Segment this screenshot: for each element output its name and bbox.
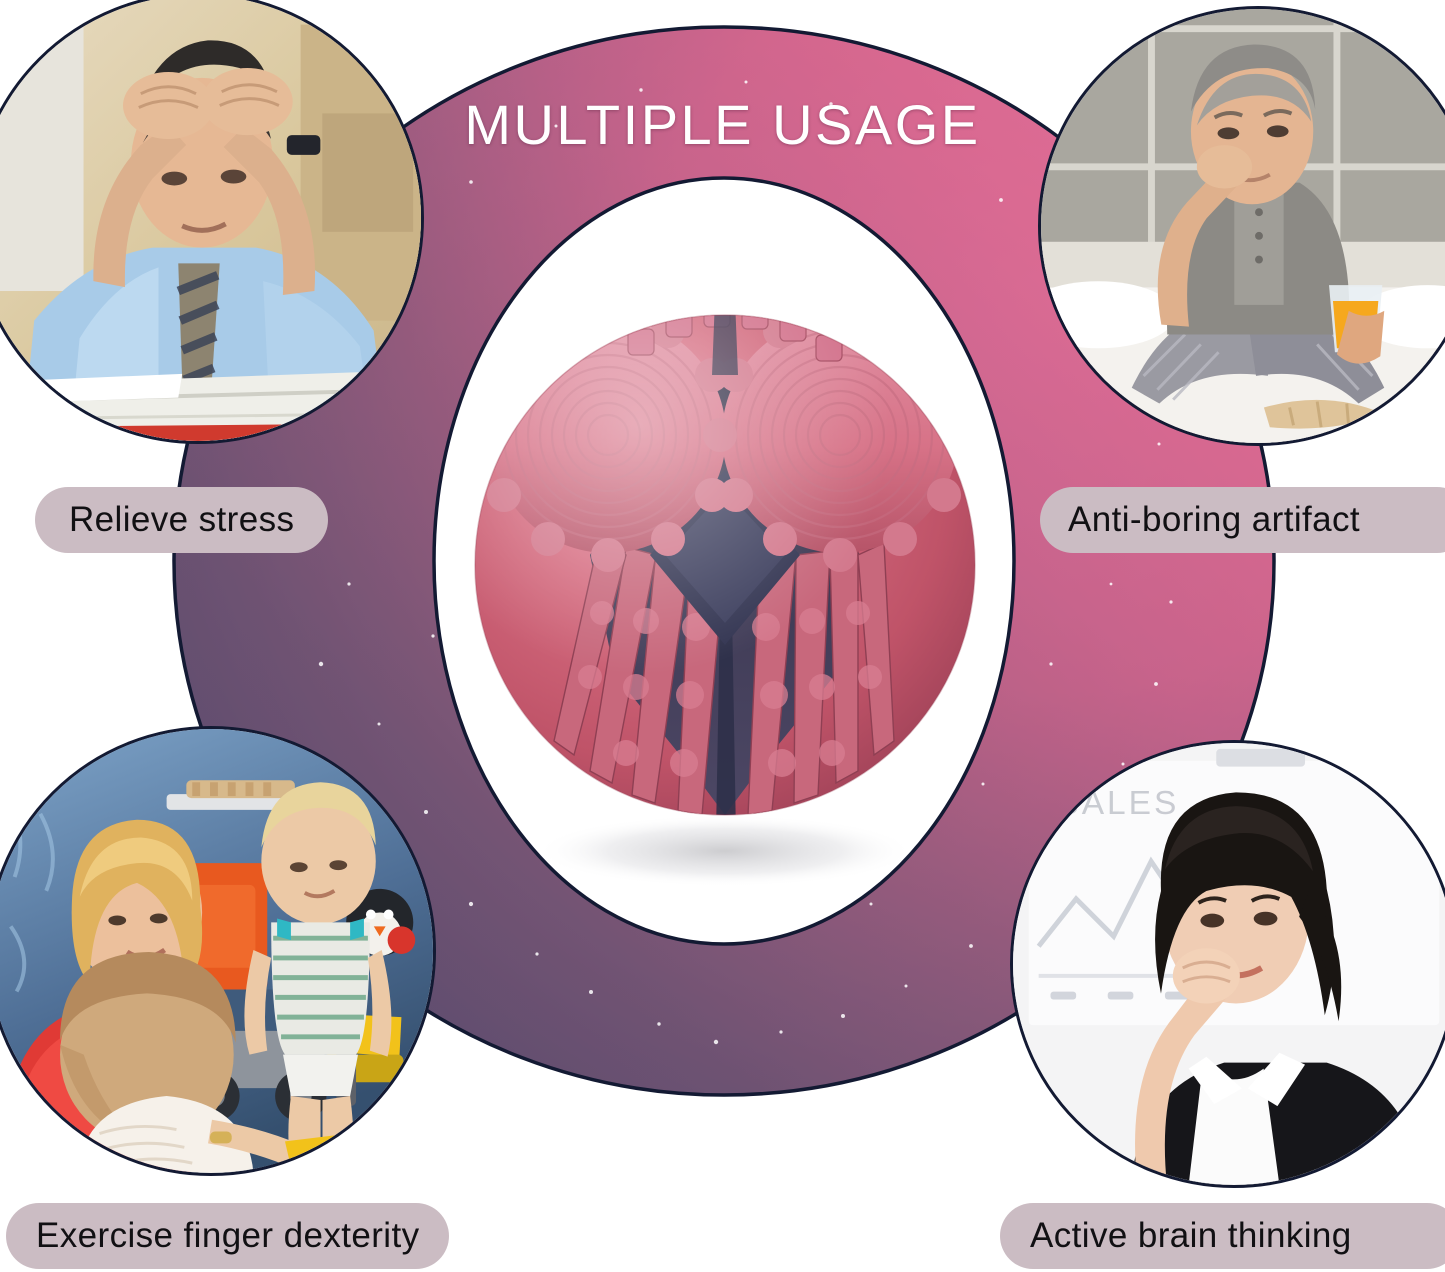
feature-label-active-brain-thinking[interactable]: Active brain thinking [1000,1203,1445,1269]
infographic-canvas: MULTIPLE USAGE [0,0,1445,1272]
feature-label-text: Active brain thinking [1030,1216,1352,1256]
feature-photo-finger-dexterity [0,726,436,1176]
feature-label-text: Relieve stress [69,500,294,540]
feature-label-text: Anti-boring artifact [1068,500,1360,540]
product-image-gear-ball [440,255,1010,895]
mother-and-toddlers-playroom-photo [0,729,433,1173]
feature-label-relieve-stress[interactable]: Relieve stress [35,487,328,553]
page-title: MULTIPLE USAGE [0,92,1445,157]
bored-office-woman-photo: SALES [1013,743,1445,1185]
feature-label-anti-boring-artifact[interactable]: Anti-boring artifact [1040,487,1445,553]
bored-man-on-bed-photo [1041,9,1445,443]
feature-photo-active-brain: SALES [1010,740,1445,1188]
stressed-businessman-photo [0,0,421,441]
gear-ball-illustration [440,255,1010,895]
feature-label-text: Exercise finger dexterity [36,1216,419,1256]
feature-label-exercise-finger-dexterity[interactable]: Exercise finger dexterity [6,1203,449,1269]
